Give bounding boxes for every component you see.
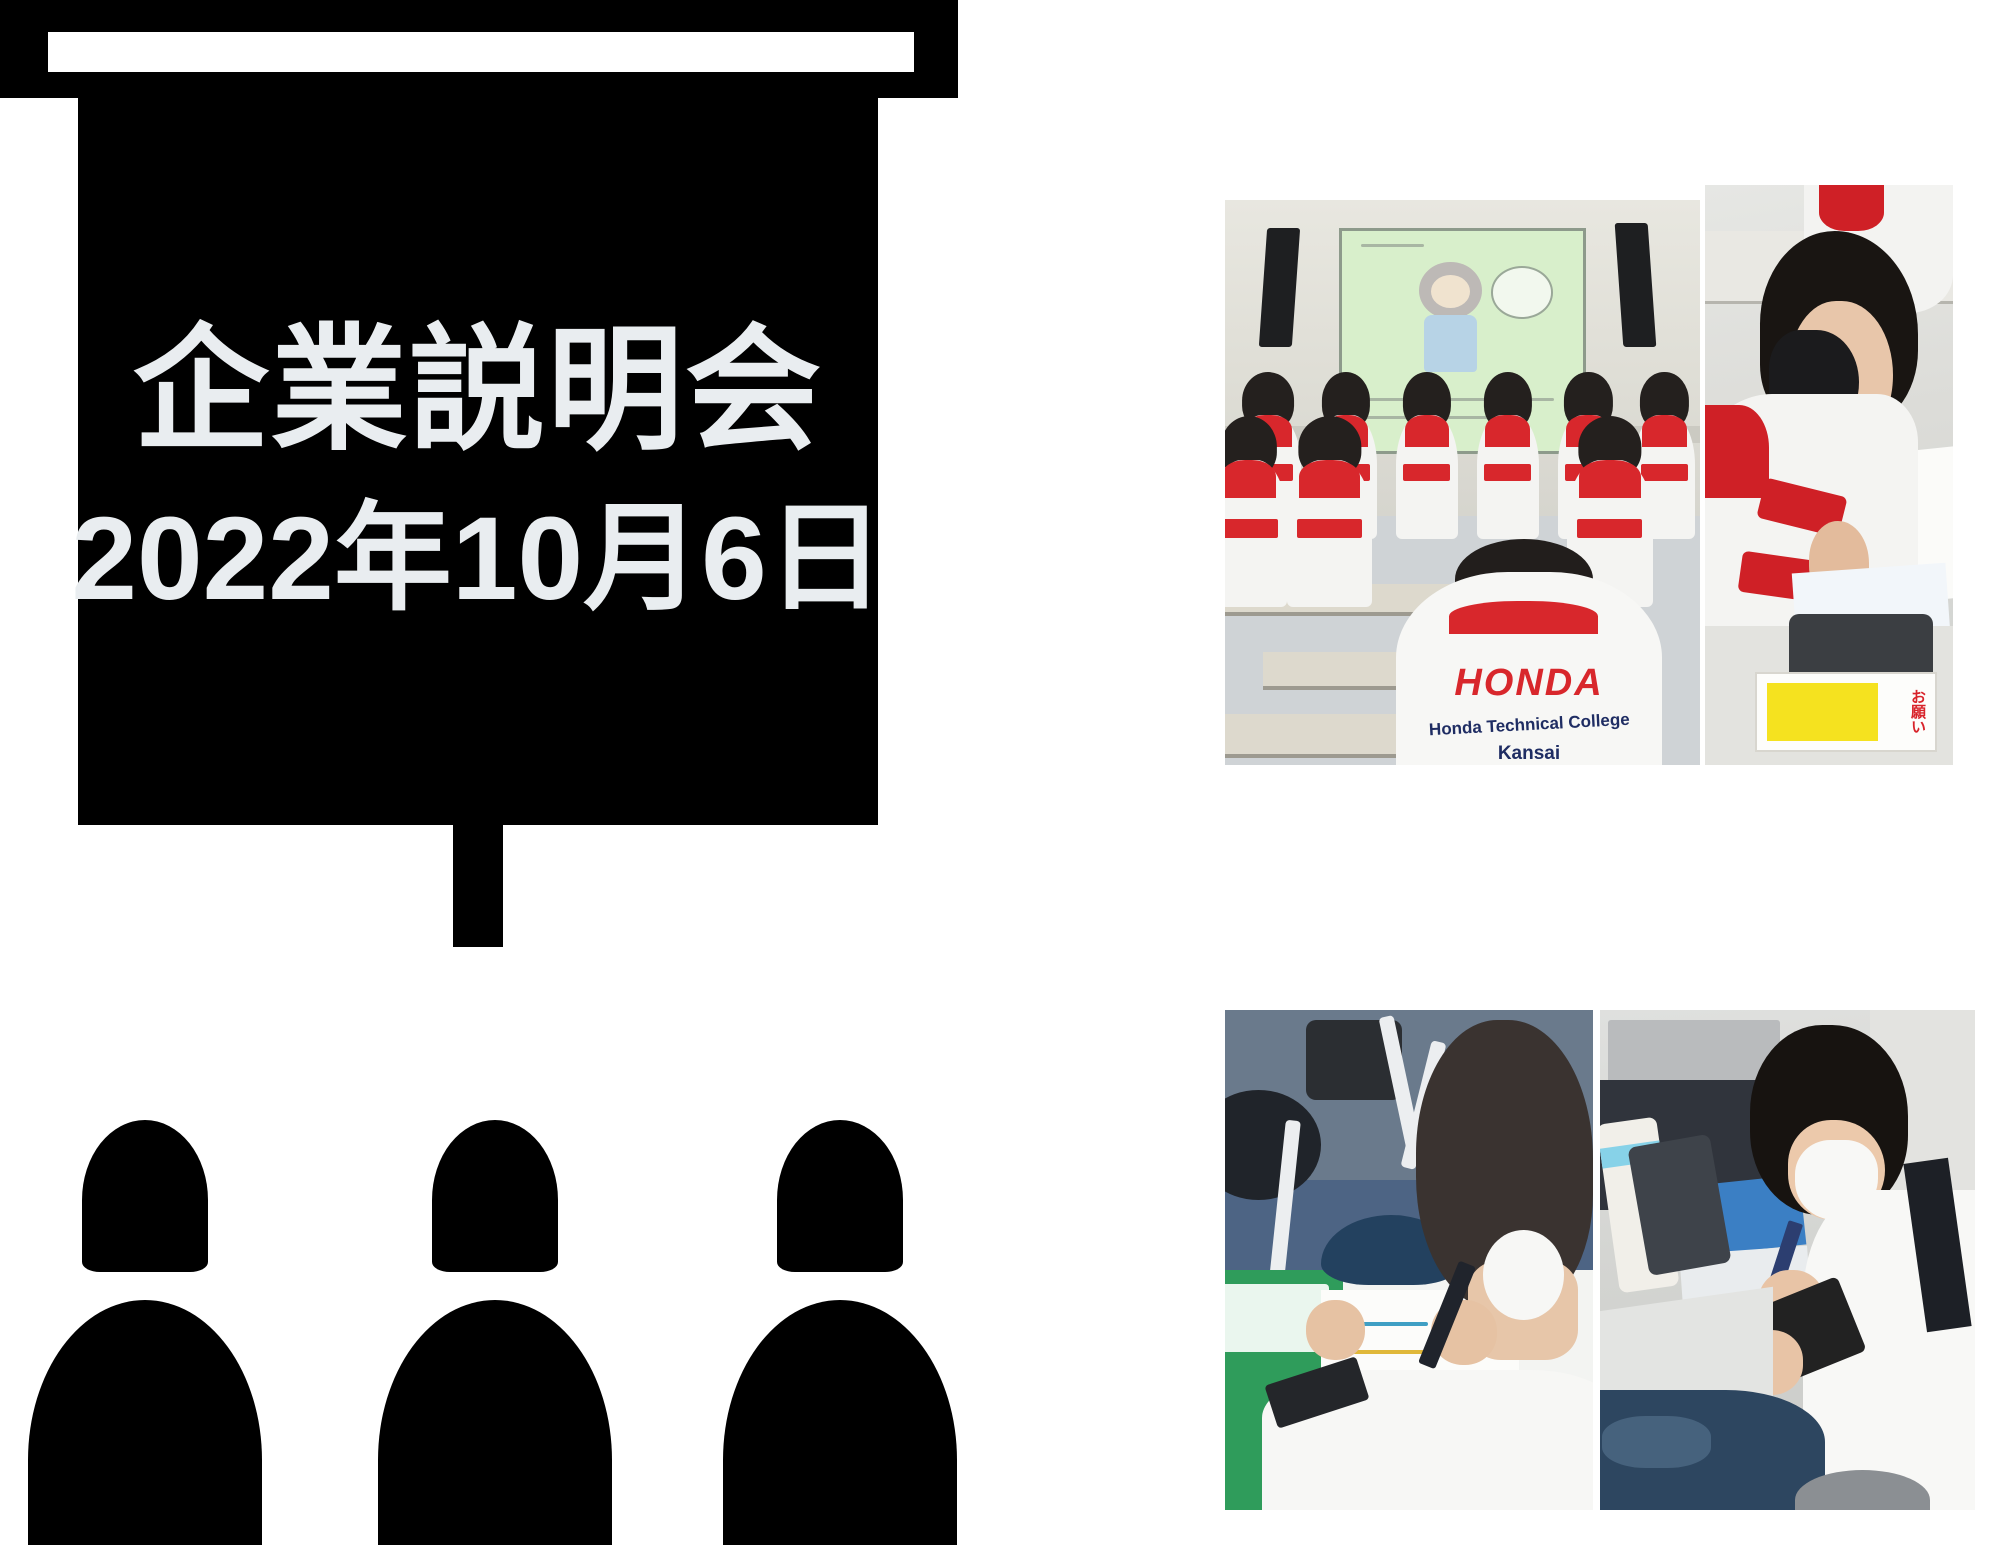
person-head-shape [82,1120,208,1272]
slide-character-body [1424,315,1477,372]
slide-speech-bubble [1491,266,1553,318]
person-body-shape [28,1300,262,1545]
event-date: 2022年10月6日 [71,492,884,628]
classroom-desk [1225,714,1425,758]
person-silhouette-icon [20,1120,270,1545]
event-title: 企業説明会 [133,314,823,466]
student-collar [1579,460,1641,498]
student-coat [1287,460,1373,607]
student-collar [1405,415,1449,447]
student-collar [1299,460,1361,498]
desk-request-sign: お願い [1755,672,1938,751]
person-head-shape [777,1120,903,1272]
student-collar [1225,460,1276,498]
student-collar [1485,415,1529,447]
student-logo [1225,519,1278,538]
student-red-shoulder [1705,405,1769,498]
slide-header-line [1361,244,1424,247]
seated-student [1477,415,1539,539]
board-top-rail [0,0,958,98]
person-body-shape [723,1300,957,1545]
student-coat [1225,460,1287,607]
student-coat [1396,415,1458,539]
foreground-student-collar [1449,601,1598,634]
photo-laptop-desk [1600,1010,1975,1510]
student-coat [1477,415,1539,539]
photo-worksheet [1225,1010,1593,1510]
student-logo [1484,464,1531,480]
photo-lecture-hall: HONDA Honda Technical College Kansai [1225,200,1700,765]
student-collar [1642,415,1686,447]
background-student-collar [1819,185,1883,231]
face-mask-strap [1483,1230,1564,1320]
sign-headline-text: お願い [1882,680,1928,743]
audience-silhouette-group [0,1120,1000,1545]
denim-highlight [1602,1416,1711,1468]
photo-student-writing: お願い [1705,185,1953,765]
person-silhouette-icon [715,1120,965,1545]
photo-collage: HONDA Honda Technical College Kansai [1180,0,2000,1545]
seated-student [1287,460,1373,607]
person-body-shape [378,1300,612,1545]
student-logo [1577,519,1642,538]
seated-student [1396,415,1458,539]
student-hand-left [1306,1300,1365,1360]
person-head-shape [432,1120,558,1272]
college-campus-line: Kansai [1428,743,1630,765]
presentation-board: 企業説明会 2022年10月6日 [0,0,1000,960]
person-silhouette-icon [370,1120,620,1545]
board-stand-pole [453,825,503,947]
photo-laptop-desk-content [1600,1010,1975,1510]
board-rail-stripe [48,32,914,72]
board-text-block: 企業説明会 2022年10月6日 [78,98,878,825]
seated-student [1225,460,1287,607]
student-logo [1297,519,1362,538]
photo-worksheet-content [1225,1010,1593,1510]
photo-lecture-hall-content: HONDA Honda Technical College Kansai [1225,200,1700,765]
slide-character-face [1431,275,1470,308]
foreground-student: HONDA Honda Technical College Kansai [1396,539,1662,765]
honda-wordmark: HONDA [1417,662,1640,705]
denim-trousers [1600,1390,1825,1510]
student-logo [1403,464,1450,480]
photo-student-writing-content: お願い [1705,185,1953,765]
sign-yellow-panel [1767,683,1878,740]
board-screen-panel: 企業説明会 2022年10月6日 [78,98,878,825]
